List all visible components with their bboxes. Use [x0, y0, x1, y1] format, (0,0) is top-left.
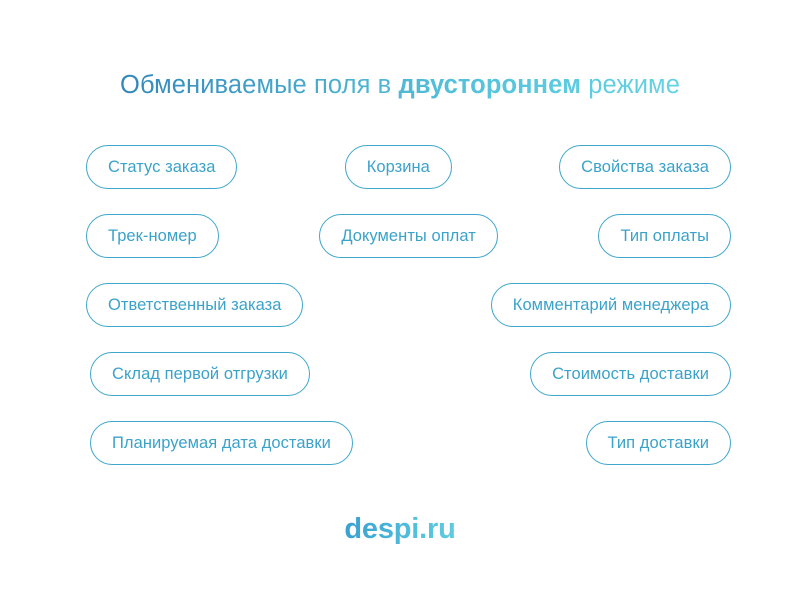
field-pill-grid: Статус заказа Корзина Свойства заказа Тр… — [86, 145, 731, 465]
page-title: Обмениваемые поля в двустороннем режиме — [120, 68, 680, 102]
field-pill-korzina[interactable]: Корзина — [345, 145, 452, 189]
field-pill-tip-dostavki[interactable]: Тип доставки — [586, 421, 732, 465]
page-title-container: Обмениваемые поля в двустороннем режиме — [0, 68, 800, 102]
field-pill-dokumenty-oplat[interactable]: Документы оплат — [319, 214, 498, 258]
field-pill-svoystva-zakaza[interactable]: Свойства заказа — [559, 145, 731, 189]
field-pill-otvetstvennyy-zakaza[interactable]: Ответственный заказа — [86, 283, 303, 327]
field-pill-row-4: Склад первой отгрузки Стоимость доставки — [90, 352, 731, 396]
field-pill-trek-nomer[interactable]: Трек-номер — [86, 214, 219, 258]
field-pill-stoimost-dostavki[interactable]: Стоимость доставки — [530, 352, 731, 396]
page-title-part-1: Обмениваемые поля в — [120, 71, 399, 99]
despi-logo[interactable]: despi.ru — [344, 510, 455, 548]
page-title-emphasis: двустороннем — [399, 71, 582, 99]
field-pill-row-1: Статус заказа Корзина Свойства заказа — [86, 145, 731, 189]
field-pill-row-5: Планируемая дата доставки Тип доставки — [90, 421, 731, 465]
field-pill-planiruemaya-data-dostavki[interactable]: Планируемая дата доставки — [90, 421, 353, 465]
page-title-part-2: режиме — [581, 71, 680, 99]
infographic-canvas: Обмениваемые поля в двустороннем режиме … — [0, 0, 800, 600]
field-pill-sklad-pervoy-otgruzki[interactable]: Склад первой отгрузки — [90, 352, 310, 396]
field-pill-row-3: Ответственный заказа Комментарий менедже… — [86, 283, 731, 327]
field-pill-kommentariy-menedzhera[interactable]: Комментарий менеджера — [491, 283, 731, 327]
field-pill-tip-oplaty[interactable]: Тип оплаты — [598, 214, 731, 258]
field-pill-status-zakaza[interactable]: Статус заказа — [86, 145, 237, 189]
footer: despi.ru — [0, 510, 800, 548]
field-pill-row-2: Трек-номер Документы оплат Тип оплаты — [86, 214, 731, 258]
